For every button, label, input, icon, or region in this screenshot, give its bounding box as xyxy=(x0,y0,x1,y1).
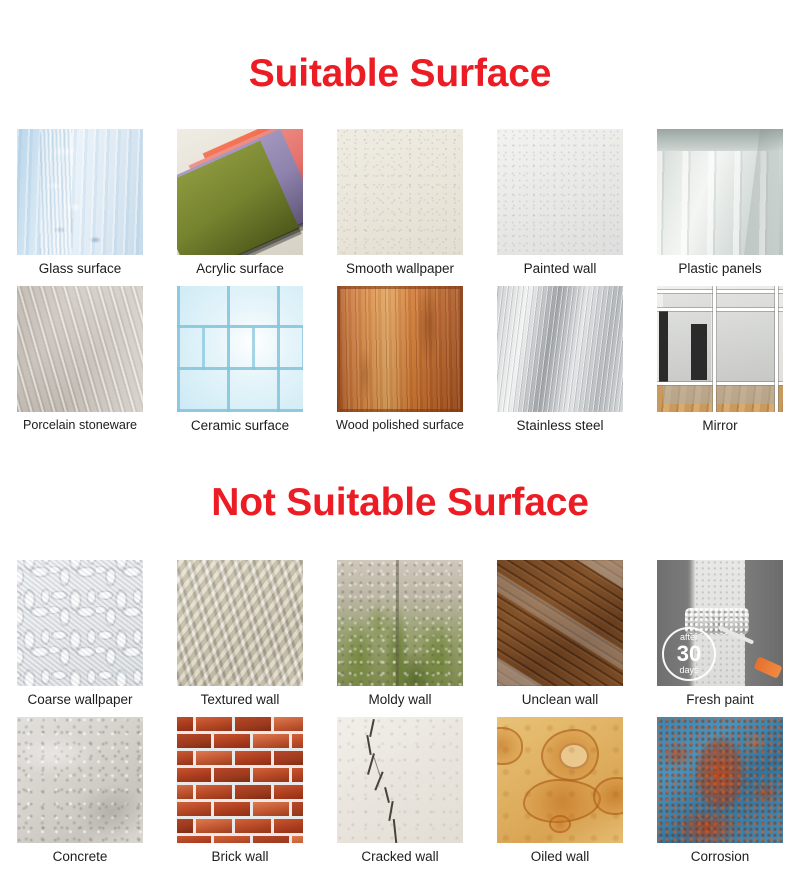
mirror-image xyxy=(657,286,783,412)
oil-stain xyxy=(593,777,623,815)
surface-label: Oiled wall xyxy=(479,843,641,874)
surface-card-painted-wall: Painted wall xyxy=(480,129,640,286)
surface-label: Wood polished surface xyxy=(319,412,481,442)
surface-label: Ceramic surface xyxy=(159,412,321,443)
ceramic-surface-image xyxy=(177,286,303,412)
oil-stain xyxy=(523,779,601,823)
after-30-days-badge: after 30 days xyxy=(662,627,716,681)
brick-row xyxy=(177,717,303,731)
paint-roller-grip xyxy=(753,656,782,678)
mirror-reflected-door xyxy=(691,324,707,380)
oiled-wall-image xyxy=(497,717,623,843)
crack-segment xyxy=(369,719,375,737)
surface-card-plastic-panels: Plastic panels xyxy=(640,129,800,286)
mirror-frame-top xyxy=(657,290,783,293)
smooth-wallpaper-texture xyxy=(337,129,463,255)
surface-card-concrete: Concrete xyxy=(0,717,160,874)
oil-stain xyxy=(497,727,523,765)
surface-label: Glass surface xyxy=(0,255,161,286)
surface-label: Cracked wall xyxy=(319,843,481,874)
moldy-wall-seam xyxy=(396,560,399,686)
oiled-wall-texture xyxy=(497,717,623,843)
porcelain-stoneware-image xyxy=(17,286,143,412)
ceramic-tile-grid xyxy=(177,286,303,412)
crack-segment xyxy=(384,787,390,803)
surface-label: Plastic panels xyxy=(639,255,800,286)
surface-card-moldy-wall: Moldy wall xyxy=(320,560,480,717)
wood-polished-image xyxy=(337,286,463,412)
oil-stain-highlight xyxy=(559,743,589,769)
surface-label: Unclean wall xyxy=(479,686,641,717)
surface-card-fresh-paint: after 30 days Fresh paint xyxy=(640,560,800,717)
surface-label: Acrylic surface xyxy=(159,255,321,286)
surface-card-ceramic-surface: Ceramic surface xyxy=(160,286,320,443)
crack-segment xyxy=(366,735,371,755)
mirror-frame-divider-2 xyxy=(775,286,778,412)
brick-wall-image xyxy=(177,717,303,843)
plastic-panels-texture xyxy=(657,129,783,255)
surface-label: Concrete xyxy=(0,843,161,874)
surface-card-smooth-wallpaper: Smooth wallpaper xyxy=(320,129,480,286)
smooth-wallpaper-image xyxy=(337,129,463,255)
fresh-paint-texture: after 30 days xyxy=(657,560,783,686)
steel-texture xyxy=(497,286,623,412)
oil-stain xyxy=(541,729,599,781)
surface-label: Painted wall xyxy=(479,255,641,286)
porcelain-texture xyxy=(17,286,143,412)
section-heading-not-suitable: Not Suitable Surface xyxy=(0,469,800,534)
surface-card-oiled-wall: Oiled wall xyxy=(480,717,640,874)
painted-wall-image xyxy=(497,129,623,255)
surface-card-wood-polished-surface: Wood polished surface xyxy=(320,286,480,443)
ceramic-texture xyxy=(177,286,303,412)
unclean-wall-texture xyxy=(497,560,623,686)
acrylic-surface-image xyxy=(177,129,303,255)
surface-label: Smooth wallpaper xyxy=(319,255,481,286)
crack-segment xyxy=(388,801,393,821)
brick-row xyxy=(177,751,303,765)
not-suitable-surface-grid: Coarse wallpaper Textured wall Moldy wal… xyxy=(0,560,800,874)
plastic-panels-image xyxy=(657,129,783,255)
cracked-wall-image xyxy=(337,717,463,843)
coarse-wallpaper-texture xyxy=(17,560,143,686)
wood-texture xyxy=(337,286,463,412)
surface-card-corrosion: Corrosion xyxy=(640,717,800,874)
mirror-frame-upper xyxy=(657,308,783,311)
surface-label: Fresh paint xyxy=(639,686,800,717)
badge-bottom-text: days xyxy=(679,666,698,675)
suitable-surface-grid: Glass surface Acrylic surface Smooth wal… xyxy=(0,129,800,443)
brick-row xyxy=(177,836,303,843)
surface-card-porcelain-stoneware: Porcelain stoneware xyxy=(0,286,160,443)
crack-segment xyxy=(393,819,397,843)
brick-row xyxy=(177,785,303,799)
mirror-frame-lower xyxy=(657,382,783,385)
surface-label: Textured wall xyxy=(159,686,321,717)
mirror-frame-divider-1 xyxy=(713,286,716,412)
surface-card-unclean-wall: Unclean wall xyxy=(480,560,640,717)
surface-label: Mirror xyxy=(639,412,800,443)
glass-texture xyxy=(17,129,143,255)
infographic-page: Suitable Surface Glass surface Acrylic s… xyxy=(0,26,800,826)
concrete-texture xyxy=(17,717,143,843)
brick-row xyxy=(177,819,303,833)
mirror-dark-doorway xyxy=(659,310,668,384)
stainless-steel-image xyxy=(497,286,623,412)
surface-card-coarse-wallpaper: Coarse wallpaper xyxy=(0,560,160,717)
surface-card-acrylic-surface: Acrylic surface xyxy=(160,129,320,286)
corrosion-texture xyxy=(657,717,783,843)
corrosion-image xyxy=(657,717,783,843)
coarse-wallpaper-image xyxy=(17,560,143,686)
brick-row xyxy=(177,768,303,782)
surface-card-textured-wall: Textured wall xyxy=(160,560,320,717)
unclean-wall-image xyxy=(497,560,623,686)
surface-label: Brick wall xyxy=(159,843,321,874)
moldy-wall-image xyxy=(337,560,463,686)
surface-label: Coarse wallpaper xyxy=(0,686,161,717)
surface-label: Porcelain stoneware xyxy=(0,412,161,442)
glass-surface-image xyxy=(17,129,143,255)
brick-row xyxy=(177,802,303,816)
acrylic-texture xyxy=(177,129,303,255)
cracked-wall-texture xyxy=(337,717,463,843)
textured-wall-texture xyxy=(177,560,303,686)
textured-wall-image xyxy=(177,560,303,686)
fresh-paint-image: after 30 days xyxy=(657,560,783,686)
badge-number: 30 xyxy=(677,643,701,665)
oil-stain xyxy=(549,815,571,833)
concrete-image xyxy=(17,717,143,843)
painted-wall-texture xyxy=(497,129,623,255)
surface-label: Stainless steel xyxy=(479,412,641,443)
surface-card-mirror: Mirror xyxy=(640,286,800,443)
crack-branch xyxy=(374,757,382,778)
mirror-texture xyxy=(657,286,783,412)
surface-card-cracked-wall: Cracked wall xyxy=(320,717,480,874)
moldy-wall-texture xyxy=(337,560,463,686)
section-heading-suitable: Suitable Surface xyxy=(0,26,800,103)
surface-label: Moldy wall xyxy=(319,686,481,717)
surface-card-brick-wall: Brick wall xyxy=(160,717,320,874)
surface-label: Corrosion xyxy=(639,843,800,874)
surface-card-stainless-steel: Stainless steel xyxy=(480,286,640,443)
brick-row xyxy=(177,734,303,748)
surface-card-glass-surface: Glass surface xyxy=(0,129,160,286)
